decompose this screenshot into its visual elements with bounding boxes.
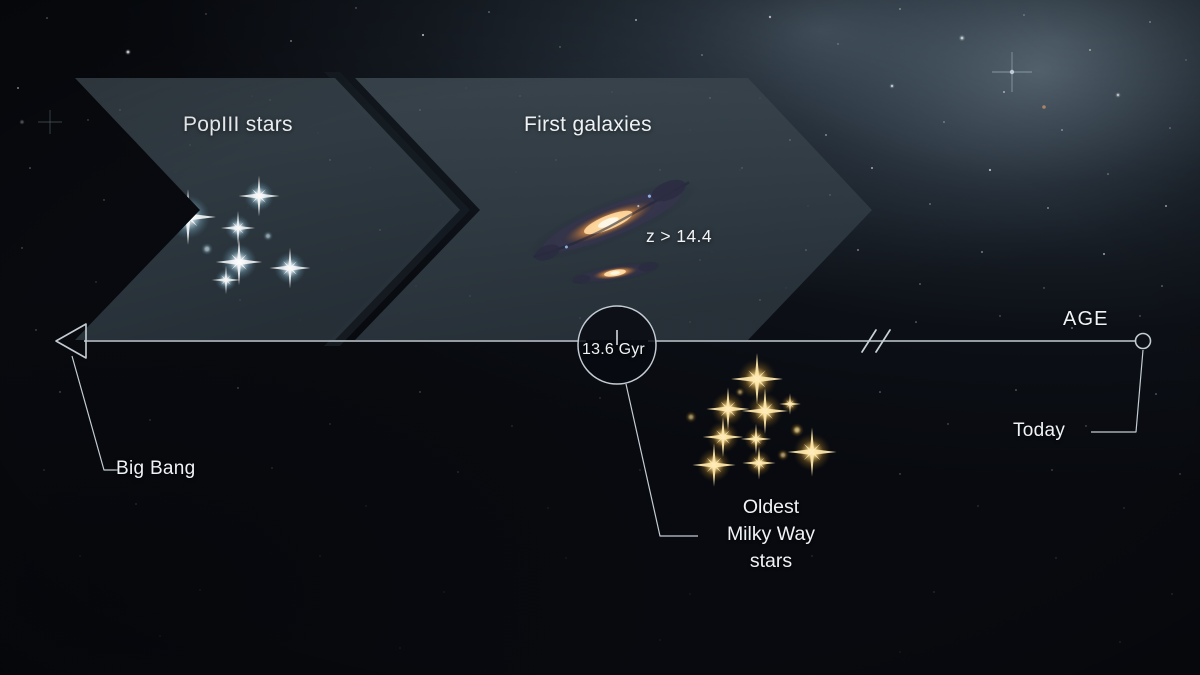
timeline-label-today: Today xyxy=(1013,420,1065,442)
open-triangle-arrow-left-icon xyxy=(56,324,86,358)
callout-line-1: Oldest xyxy=(707,494,835,521)
leader-line-oldest-stars xyxy=(626,384,698,536)
callout-line-2: Milky Way xyxy=(707,521,835,548)
callout-line-3: stars xyxy=(707,548,835,575)
timeline-axis xyxy=(0,0,1200,675)
open-circle-icon xyxy=(1136,334,1151,349)
leader-line-big-bang xyxy=(72,356,118,470)
age-marker-label: 13.6 Gyr xyxy=(582,341,645,359)
callout-oldest-milky-way-stars: Oldest Milky Way stars xyxy=(707,494,835,575)
axis-label-age: AGE xyxy=(1063,308,1109,331)
timeline-label-big-bang: Big Bang xyxy=(116,458,196,480)
gold-star-cluster-icon xyxy=(685,353,836,487)
cosmic-timeline-figure: PopIII stars First galaxies z > 14.4 xyxy=(0,0,1200,675)
leader-line-today xyxy=(1091,350,1143,432)
